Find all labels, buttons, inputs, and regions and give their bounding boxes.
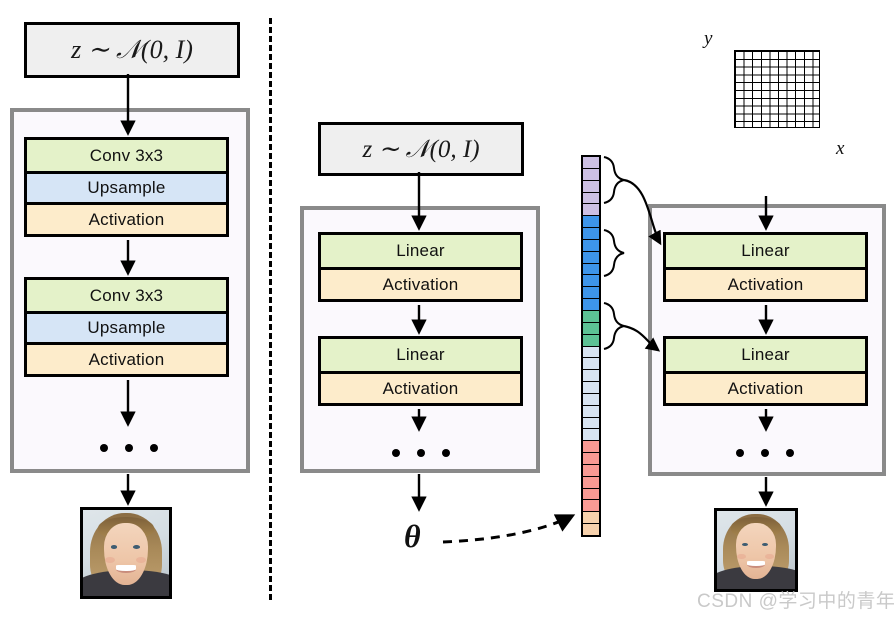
vector-cell-pale-blue bbox=[583, 358, 599, 370]
x-axis-label: x bbox=[836, 138, 844, 160]
vector-cell-lavender bbox=[583, 169, 599, 181]
vector-cell-lavender bbox=[583, 181, 599, 193]
layer-activation: Activation bbox=[321, 267, 520, 299]
vector-cell-pale-blue bbox=[583, 394, 599, 406]
vector-cell-salmon bbox=[583, 477, 599, 489]
implicit-block-2[interactable]: Linear Activation bbox=[663, 336, 868, 406]
conv-block-1[interactable]: Conv 3x3 Upsample Activation bbox=[24, 137, 229, 237]
layer-upsample: Upsample bbox=[27, 171, 226, 202]
ellipsis-right bbox=[736, 449, 794, 457]
output-face-right bbox=[714, 508, 798, 592]
vector-cell-salmon bbox=[583, 453, 599, 465]
brace-middle bbox=[604, 230, 624, 276]
vector-cell-lavender bbox=[583, 157, 599, 169]
vector-cell-blue bbox=[583, 287, 599, 299]
vector-cell-salmon bbox=[583, 500, 599, 512]
coordinate-grid-plot: y x bbox=[690, 30, 880, 190]
vector-cell-blue bbox=[583, 275, 599, 287]
parameter-vector-bar[interactable] bbox=[581, 155, 601, 537]
layer-conv: Conv 3x3 bbox=[27, 140, 226, 171]
layer-activation: Activation bbox=[321, 371, 520, 403]
layer-upsample: Upsample bbox=[27, 311, 226, 342]
layer-linear: Linear bbox=[666, 235, 865, 267]
vector-cell-salmon bbox=[583, 465, 599, 477]
vector-cell-pale-blue bbox=[583, 370, 599, 382]
vector-cell-pale-blue bbox=[583, 429, 599, 441]
vector-cell-salmon bbox=[583, 489, 599, 501]
mlp-block-2[interactable]: Linear Activation bbox=[318, 336, 523, 406]
layer-activation: Activation bbox=[666, 371, 865, 403]
layer-linear: Linear bbox=[321, 235, 520, 267]
layer-activation: Activation bbox=[666, 267, 865, 299]
diagram-canvas: z ∼ 𝒩(0, I) Conv 3x3 Upsample Activation… bbox=[0, 0, 896, 621]
vector-cell-blue bbox=[583, 216, 599, 228]
vector-cell-pale-blue bbox=[583, 406, 599, 418]
vector-cell-blue bbox=[583, 228, 599, 240]
y-axis-label: y bbox=[704, 28, 712, 50]
mlp-block-1[interactable]: Linear Activation bbox=[318, 232, 523, 302]
layer-linear: Linear bbox=[666, 339, 865, 371]
layer-activation: Activation bbox=[27, 202, 226, 234]
vector-cell-salmon bbox=[583, 441, 599, 453]
vector-cell-peach bbox=[583, 512, 599, 524]
vector-cell-green bbox=[583, 311, 599, 323]
ellipsis-middle bbox=[392, 449, 450, 457]
vector-cell-blue bbox=[583, 240, 599, 252]
vector-cell-pale-blue bbox=[583, 382, 599, 394]
vector-cell-peach bbox=[583, 524, 599, 535]
brace-top bbox=[604, 157, 624, 203]
theta-symbol: θ bbox=[404, 518, 421, 555]
vector-cell-green bbox=[583, 335, 599, 347]
layer-activation: Activation bbox=[27, 342, 226, 374]
latent-box-left: z ∼ 𝒩(0, I) bbox=[24, 22, 240, 78]
vector-cell-lavender bbox=[583, 193, 599, 205]
latent-formula-left: z ∼ 𝒩(0, I) bbox=[71, 35, 193, 66]
latent-formula-middle: z ∼ 𝒩(0, I) bbox=[362, 134, 479, 164]
implicit-block-1[interactable]: Linear Activation bbox=[663, 232, 868, 302]
vector-cell-green bbox=[583, 323, 599, 335]
vector-cell-blue bbox=[583, 299, 599, 311]
latent-box-middle: z ∼ 𝒩(0, I) bbox=[318, 122, 524, 176]
brace-bottom bbox=[604, 303, 624, 349]
vector-cell-blue bbox=[583, 252, 599, 264]
layer-linear: Linear bbox=[321, 339, 520, 371]
vector-cell-pale-blue bbox=[583, 347, 599, 359]
vector-cell-lavender bbox=[583, 204, 599, 216]
ellipsis-left bbox=[100, 444, 158, 452]
panel-divider bbox=[269, 18, 272, 600]
theta-to-vector-arrow bbox=[443, 516, 572, 542]
vector-cell-blue bbox=[583, 264, 599, 276]
output-face-left bbox=[80, 507, 172, 599]
vector-cell-pale-blue bbox=[583, 418, 599, 430]
conv-block-2[interactable]: Conv 3x3 Upsample Activation bbox=[24, 277, 229, 377]
layer-conv: Conv 3x3 bbox=[27, 280, 226, 311]
grid-squares bbox=[734, 50, 820, 128]
watermark-text: CSDN @学习中的青年 bbox=[697, 586, 895, 613]
